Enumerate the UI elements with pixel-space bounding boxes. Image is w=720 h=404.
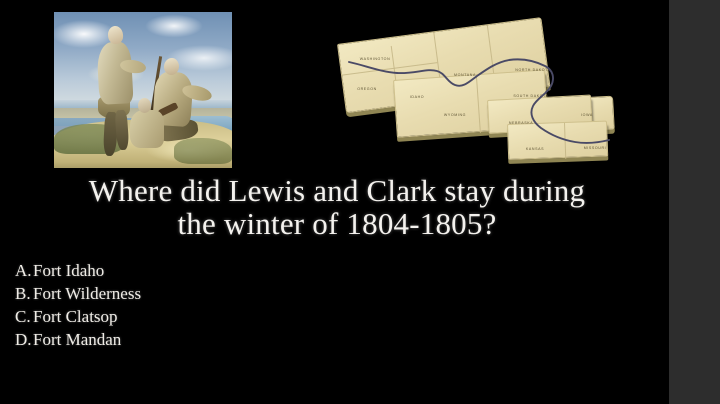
painting-figure-kneeling-body: [130, 110, 164, 148]
answer-text-b: Fort Wilderness: [33, 282, 141, 305]
question-title: Where did Lewis and Clark stay during th…: [10, 174, 664, 240]
painting-figure-standing-body: [96, 41, 133, 105]
map-state-label: Iowa: [581, 113, 593, 117]
lewis-and-clark-painting: [54, 12, 232, 168]
map-state-label: Missouri: [584, 146, 607, 150]
map-state-label: Montana: [454, 73, 476, 77]
answer-choice-c[interactable]: C. Fort Clatsop: [15, 305, 415, 328]
question-title-line-1: Where did Lewis and Clark stay during: [10, 174, 664, 207]
answer-text-c: Fort Clatsop: [33, 305, 118, 328]
question-title-line-2: the winter of 1804-1805?: [10, 207, 664, 240]
map-state-label: Wyoming: [444, 113, 466, 117]
answer-choice-b[interactable]: B. Fort Wilderness: [15, 282, 415, 305]
answer-choice-d[interactable]: D. Fort Mandan: [15, 328, 415, 351]
lewis-and-clark-trail-map: Washington Oregon Idaho Montana North Da…: [337, 42, 623, 168]
map-state-label: South Dakota: [513, 94, 548, 98]
answer-letter-a: A.: [15, 259, 33, 282]
map-state-label: Kansas: [526, 147, 544, 151]
map-block-kansas-missouri: [507, 121, 608, 160]
map-state-label: North Dakota: [515, 68, 550, 72]
answer-letter-d: D.: [15, 328, 33, 351]
letterbox-bar-right: [669, 0, 720, 404]
answer-choice-a[interactable]: A. Fort Idaho: [15, 259, 415, 282]
answer-letter-b: B.: [15, 282, 33, 305]
answer-text-a: Fort Idaho: [33, 259, 104, 282]
answer-choices-list: A. Fort Idaho B. Fort Wilderness C. Fort…: [15, 259, 415, 351]
map-state-label: Nebraska: [509, 121, 533, 125]
map-state-label: Oregon: [357, 87, 377, 91]
painting-figure-kneeling-head: [138, 98, 151, 113]
map-divider: [342, 62, 437, 76]
answer-letter-c: C.: [15, 305, 33, 328]
quiz-slide: Washington Oregon Idaho Montana North Da…: [0, 0, 720, 404]
painting-grass-right: [174, 138, 232, 164]
answer-text-d: Fort Mandan: [33, 328, 121, 351]
map-state-label: Washington: [360, 57, 391, 61]
map-divider: [564, 123, 566, 159]
map-divider: [476, 75, 481, 133]
map-state-label: Idaho: [410, 95, 424, 99]
